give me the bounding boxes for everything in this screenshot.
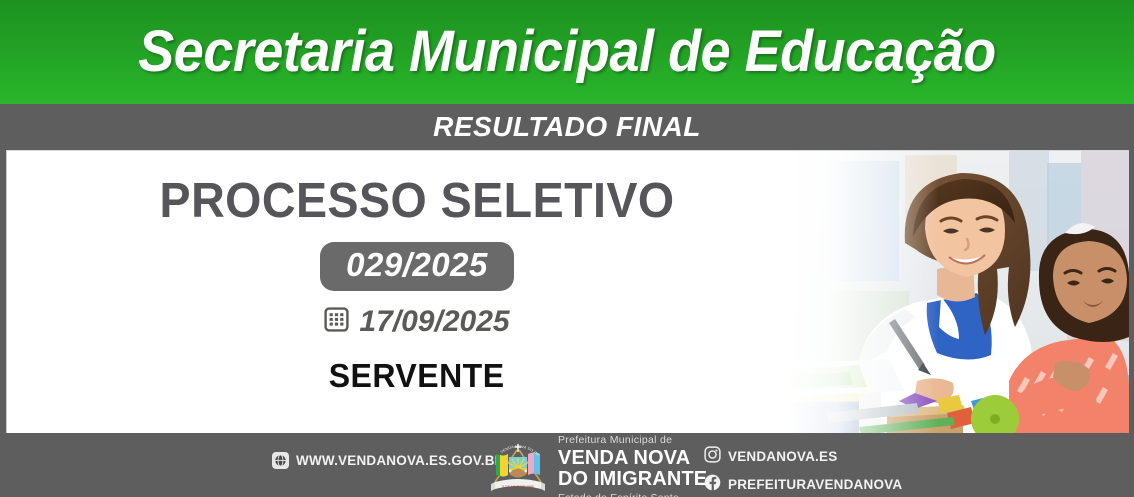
date-row: 17/09/2025	[324, 307, 509, 337]
svg-text:5 DE MAIO DE 1988: 5 DE MAIO DE 1988	[502, 485, 533, 489]
result-status-bar: RESULTADO FINAL	[0, 104, 1134, 149]
announcement-banner: Secretaria Municipal de Educação RESULTA…	[0, 0, 1134, 497]
logo-line-2: DO IMIGRANTE	[558, 469, 707, 490]
social-links: VENDANOVA.ES PREFEITURAVENDANOVA	[704, 446, 902, 496]
process-date: 17/09/2025	[359, 307, 509, 337]
calendar-icon	[324, 307, 349, 337]
instagram-link[interactable]: VENDANOVA.ES	[704, 446, 902, 468]
process-info-stack: PROCESSO SELETIVO 029/2025	[7, 151, 1129, 433]
city-logo: VENDA NOVA DO IMIGRANTE 5 DE MAIO DE 198…	[487, 435, 712, 497]
process-number-badge: 029/2025	[320, 242, 514, 291]
content-card: PROCESSO SELETIVO 029/2025	[6, 150, 1129, 433]
globe-icon	[272, 452, 289, 469]
instagram-icon	[704, 446, 721, 468]
process-role: SERVENTE	[329, 359, 505, 392]
coat-of-arms-icon: VENDA NOVA DO IMIGRANTE 5 DE MAIO DE 198…	[487, 438, 549, 497]
facebook-handle: PREFEITURAVENDANOVA	[728, 478, 902, 492]
facebook-icon	[704, 474, 721, 496]
instagram-handle: VENDANOVA.ES	[728, 450, 837, 464]
facebook-link[interactable]: PREFEITURAVENDANOVA	[704, 474, 902, 496]
website-link[interactable]: WWW.VENDANOVA.ES.GOV.BR	[272, 452, 505, 469]
logo-prefix: Prefeitura Municipal de	[558, 435, 712, 446]
header-title: Secretaria Municipal de Educação	[138, 23, 995, 81]
green-header-bar: Secretaria Municipal de Educação	[0, 0, 1134, 104]
process-number-label: 029/2025	[346, 248, 488, 283]
website-url: WWW.VENDANOVA.ES.GOV.BR	[296, 454, 505, 468]
logo-state: Estado do Espírito Santo	[558, 493, 712, 497]
logo-line-1: VENDA NOVA	[558, 448, 707, 469]
result-status-label: RESULTADO FINAL	[433, 113, 701, 141]
city-logo-text: Prefeitura Municipal de VENDA NOVA DO IM…	[558, 435, 712, 497]
process-title: PROCESSO SELETIVO	[159, 177, 674, 226]
